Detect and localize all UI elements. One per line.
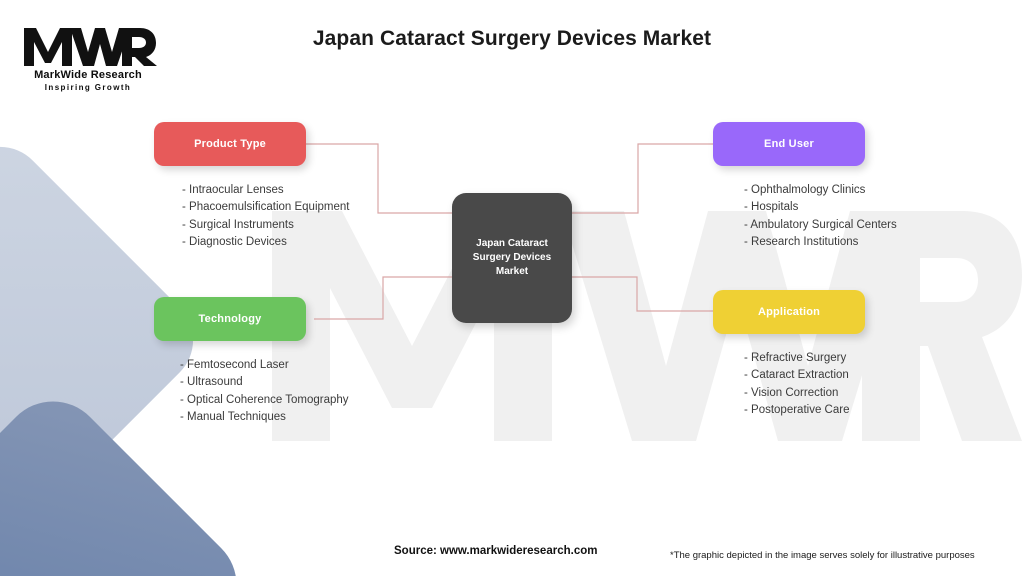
center-hub-label: Japan Cataract Surgery Devices Market (452, 237, 572, 279)
branch-label-end-user: End User (764, 138, 814, 150)
list-item: - Phacoemulsification Equipment (182, 199, 349, 216)
list-item: - Vision Correction (744, 385, 865, 402)
source-text: Source: www.markwideresearch.com (394, 545, 597, 557)
branch-label-application: Application (758, 306, 820, 318)
branch-header-application[interactable]: Application (713, 290, 865, 334)
logo-tagline: Inspiring Growth (18, 83, 158, 92)
branch-product-type: Product Type - Intraocular Lenses - Phac… (154, 122, 349, 251)
list-item: - Surgical Instruments (182, 217, 349, 234)
branch-application: Application - Refractive Surgery - Catar… (713, 290, 865, 419)
branch-items-end-user: - Ophthalmology Clinics - Hospitals - Am… (713, 182, 897, 251)
branch-items-technology: - Femtosecond Laser - Ultrasound - Optic… (154, 357, 349, 426)
slide-canvas: MarkWide Research Inspiring Growth Japan… (0, 0, 1024, 576)
branch-items-application: - Refractive Surgery - Cataract Extracti… (713, 350, 865, 419)
branch-label-technology: Technology (199, 313, 262, 325)
list-item: - Hospitals (744, 199, 897, 216)
list-item: - Manual Techniques (180, 409, 349, 426)
page-title: Japan Cataract Surgery Devices Market (0, 27, 1024, 51)
list-item: - Ambulatory Surgical Centers (744, 217, 897, 234)
branch-header-product-type[interactable]: Product Type (154, 122, 306, 166)
list-item: - Diagnostic Devices (182, 234, 349, 251)
branch-technology: Technology - Femtosecond Laser - Ultraso… (154, 297, 349, 426)
list-item: - Cataract Extraction (744, 367, 865, 384)
list-item: - Research Institutions (744, 234, 897, 251)
branch-end-user: End User - Ophthalmology Clinics - Hospi… (713, 122, 897, 251)
list-item: - Ultrasound (180, 374, 349, 391)
list-item: - Femtosecond Laser (180, 357, 349, 374)
disclaimer-text: *The graphic depicted in the image serve… (670, 550, 975, 561)
branch-header-technology[interactable]: Technology (154, 297, 306, 341)
list-item: - Postoperative Care (744, 402, 865, 419)
list-item: - Refractive Surgery (744, 350, 865, 367)
branch-label-product-type: Product Type (194, 138, 266, 150)
center-hub-node[interactable]: Japan Cataract Surgery Devices Market (452, 193, 572, 323)
connector-application (572, 277, 713, 311)
list-item: - Ophthalmology Clinics (744, 182, 897, 199)
connector-end-user (572, 144, 713, 213)
list-item: - Optical Coherence Tomography (180, 392, 349, 409)
branch-items-product-type: - Intraocular Lenses - Phacoemulsificati… (154, 182, 349, 251)
list-item: - Intraocular Lenses (182, 182, 349, 199)
logo-company-name: MarkWide Research (18, 69, 158, 81)
background-watermark (262, 196, 1022, 456)
branch-header-end-user[interactable]: End User (713, 122, 865, 166)
